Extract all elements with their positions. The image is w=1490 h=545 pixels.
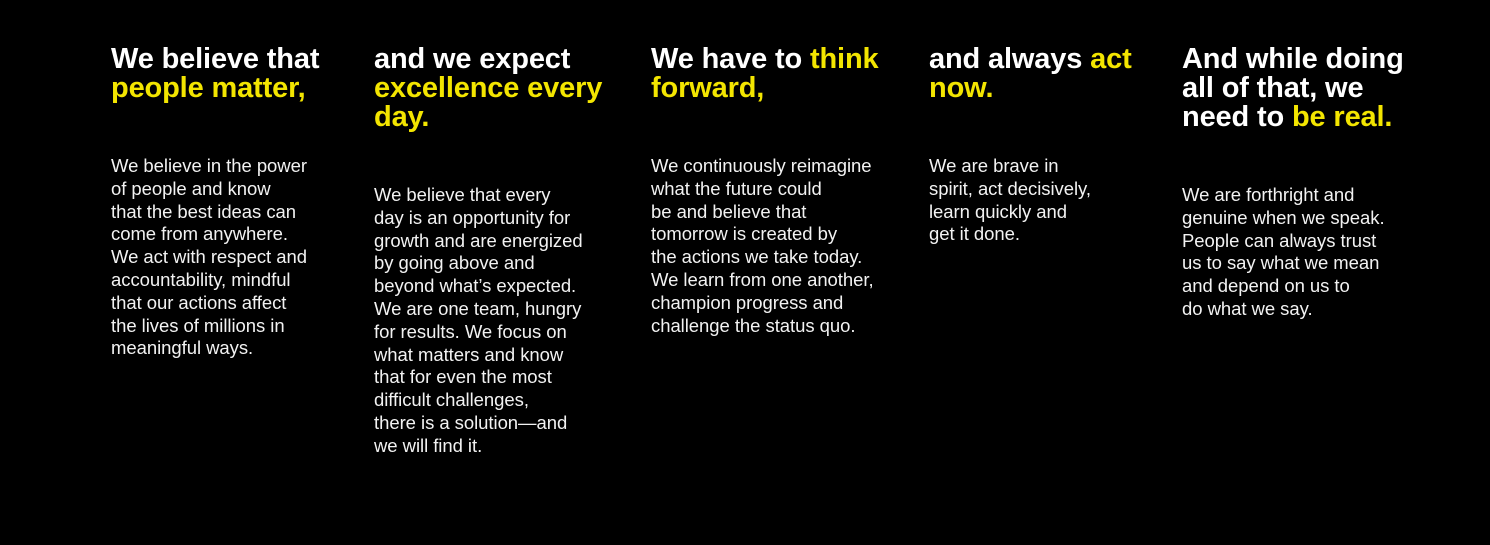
- value-heading: We have to think forward,: [651, 45, 899, 103]
- value-column-people-matter: We believe that people matter, We believ…: [111, 45, 374, 360]
- value-heading-accent: excellence every day.: [374, 72, 602, 133]
- value-heading-lead: and we expect: [374, 43, 570, 75]
- value-column-think-forward: We have to think forward, We continuousl…: [651, 45, 929, 337]
- value-body-text: We believe in the power of people and kn…: [111, 103, 344, 360]
- value-heading-lead: We have to: [651, 43, 810, 75]
- value-body-text: We believe that every day is an opportun…: [374, 132, 621, 458]
- value-column-excellence-every-day: and we expect excellence every day. We b…: [374, 45, 651, 458]
- value-body-text: We continuously reimagine what the futur…: [651, 103, 899, 337]
- values-board: We believe that people matter, We believ…: [0, 0, 1490, 545]
- value-column-be-real: And while doing all of that, we need to …: [1182, 45, 1421, 321]
- value-heading: and always act now.: [929, 45, 1152, 103]
- value-heading-lead: We believe that: [111, 43, 319, 75]
- value-column-act-now: and always act now. We are brave in spir…: [929, 45, 1182, 246]
- value-body-text: We are brave in spirit, act decisively, …: [929, 103, 1152, 246]
- values-column-list: We believe that people matter, We believ…: [111, 45, 1421, 458]
- value-heading: And while doing all of that, we need to …: [1182, 45, 1421, 132]
- value-heading-accent: people matter,: [111, 72, 306, 104]
- value-heading-lead: and always: [929, 43, 1090, 75]
- value-heading-accent: be real.: [1292, 101, 1392, 133]
- value-heading: and we expect excellence every day.: [374, 45, 621, 132]
- value-body-text: We are forthright and genuine when we sp…: [1182, 132, 1421, 321]
- value-heading: We believe that people matter,: [111, 45, 344, 103]
